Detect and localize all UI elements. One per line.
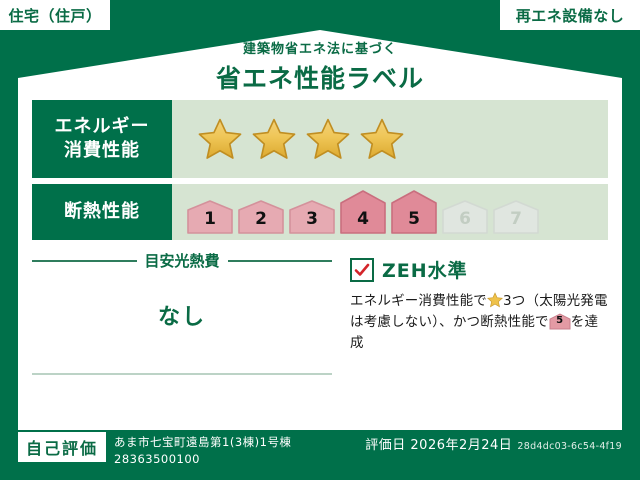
energy-label-line1: エネルギー: [55, 115, 150, 139]
grade-value: 5: [390, 209, 438, 229]
evaluation-id: 28d4dc03-6c54-4f19: [517, 441, 622, 452]
energy-performance-row: エネルギー 消費性能: [32, 100, 608, 178]
zeh-desc-part1: エネルギー消費性能で: [350, 293, 487, 309]
insulation-grade-5: 5: [390, 189, 438, 235]
insulation-grade-3: 3: [288, 199, 336, 235]
building-type-badge: 住宅（住戸）: [0, 0, 110, 30]
energy-performance-label: エネルギー 消費性能: [32, 100, 172, 178]
utility-cost-block: 目安光熱費 なし: [32, 250, 332, 375]
energy-label-line2: 消費性能: [64, 139, 140, 163]
grade-value: 6: [441, 209, 489, 229]
cost-bottom-divider: [32, 373, 332, 375]
inline-grade-badge: 5: [549, 313, 571, 330]
grade-value: 3: [288, 209, 336, 229]
zeh-checkbox[interactable]: [350, 258, 374, 282]
evaluation-date: 評価日 2026年2月24日: [365, 438, 512, 453]
grade-value: 7: [492, 209, 540, 229]
grade-value: 4: [339, 209, 387, 229]
insulation-grade-6: 6: [441, 199, 489, 235]
utility-cost-heading: 目安光熱費: [32, 250, 332, 271]
renewable-energy-badge: 再エネ設備なし: [500, 0, 640, 30]
inline-grade-value: 5: [549, 313, 571, 329]
inline-star-icon: [487, 292, 503, 308]
star-icon: [252, 117, 296, 161]
utility-cost-heading-text: 目安光熱費: [145, 250, 220, 271]
insulation-grade-1: 1: [186, 199, 234, 235]
zeh-desc-part2: は考慮しない）、かつ断熱性能で: [350, 314, 549, 330]
insulation-performance-row: 断熱性能 1234567: [32, 184, 608, 240]
zeh-title: ZEH水準: [382, 256, 468, 283]
label-content: エネルギー 消費性能 断熱性能 1234567 目安光熱費 なし: [32, 100, 608, 375]
star-rating: [172, 117, 404, 161]
insulation-grade-2: 2: [237, 199, 285, 235]
zeh-description: エネルギー消費性能で 3つ（太陽光発電 は考慮しない）、かつ断熱性能で 5を達成: [350, 291, 608, 354]
star-icon: [198, 117, 242, 161]
heading-rule-left: [32, 260, 137, 262]
insulation-performance-label: 断熱性能: [32, 184, 172, 240]
energy-performance-value: [172, 100, 608, 178]
grade-value: 1: [186, 209, 234, 229]
insulation-grade-4: 4: [339, 189, 387, 235]
energy-label-card: 住宅（住戸） 再エネ設備なし 建築物省エネ法に基づく 省エネ性能ラベル エネルギ…: [0, 0, 640, 480]
footer: 自己評価 あま市七宝町遠島第1(3棟)1号棟28363500100 評価日 20…: [18, 432, 622, 472]
zeh-desc-star-count: 3つ（太陽光発電: [503, 293, 608, 309]
zeh-title-row: ZEH水準: [350, 256, 608, 283]
evaluation-date-block: 評価日 2026年2月24日 28d4dc03-6c54-4f19: [365, 432, 622, 453]
grade-value: 2: [237, 209, 285, 229]
utility-cost-value: なし: [32, 299, 332, 331]
zeh-block: ZEH水準 エネルギー消費性能で 3つ（太陽光発電 は考慮しない）、かつ断熱性能…: [332, 250, 608, 375]
star-icon: [360, 117, 404, 161]
self-evaluation-badge: 自己評価: [18, 432, 106, 462]
property-address: あま市七宝町遠島第1(3棟)1号棟28363500100: [114, 432, 364, 467]
insulation-grade-7: 7: [492, 199, 540, 235]
lower-section: 目安光熱費 なし ZEH水準 エネルギー消費性能で: [32, 250, 608, 375]
insulation-grade-scale: 1234567: [172, 189, 540, 235]
insulation-performance-value: 1234567: [172, 184, 608, 240]
heading-rule-right: [228, 260, 333, 262]
star-icon: [306, 117, 350, 161]
